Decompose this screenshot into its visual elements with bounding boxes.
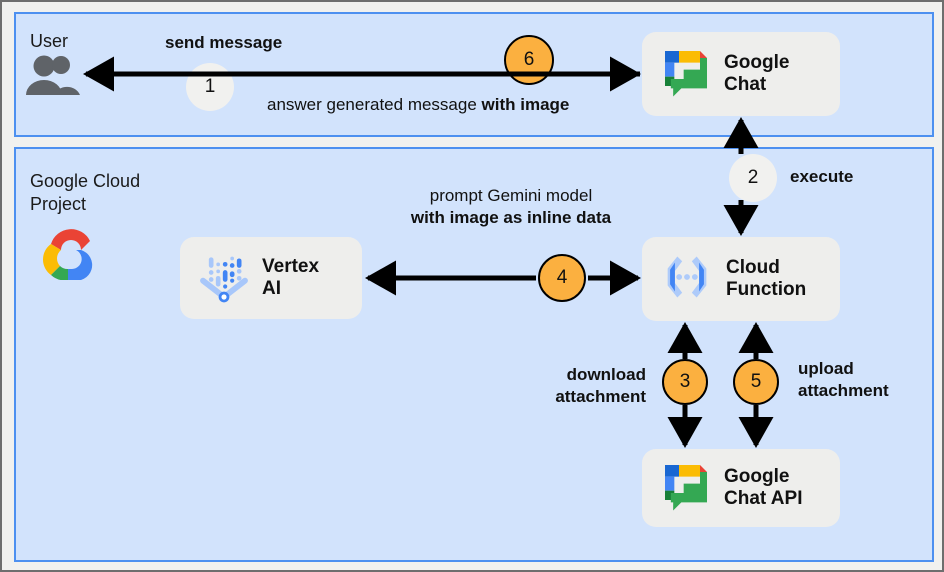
card-google-chat[interactable]: Google Chat [642, 32, 840, 116]
card-google-chat-label: Google Chat [724, 52, 789, 96]
step-badge-6: 6 [504, 35, 554, 85]
card-vertex-ai-label: Vertex AI [262, 256, 319, 300]
card-google-chat-api[interactable]: Google Chat API [642, 449, 840, 527]
label-answer-generated: answer generated message with image [267, 94, 569, 116]
google-chat-icon [658, 458, 714, 519]
diagram-canvas: User send message answer generated messa… [0, 0, 944, 572]
label-prompt-gemini: prompt Gemini modelwith image as inline … [374, 185, 648, 230]
label-download-attachment: download attachment [486, 364, 646, 409]
step-badge-4: 4 [538, 254, 586, 302]
label-send-message: send message [165, 32, 282, 54]
cloud-function-icon [658, 248, 716, 311]
step-badge-5: 5 [733, 359, 779, 405]
gcp-panel-title: Google Cloud Project [30, 170, 140, 215]
label-answer-generated-prefix: answer generated message [267, 95, 482, 114]
step-badge-1: 1 [186, 63, 234, 111]
label-answer-generated-emphasis: with image [482, 95, 570, 114]
google-cloud-icon [38, 224, 104, 285]
card-cloud-function[interactable]: Cloud Function [642, 237, 840, 321]
label-prompt-gemini-prefix: prompt Gemini model [430, 186, 593, 205]
label-execute: execute [790, 166, 853, 188]
google-chat-icon [658, 44, 714, 105]
step-badge-2: 2 [729, 154, 777, 202]
label-prompt-gemini-emphasis: with image as inline data [411, 208, 611, 227]
user-panel-title: User [30, 30, 68, 53]
label-upload-attachment: upload attachment [798, 358, 889, 403]
vertex-ai-icon [196, 248, 252, 309]
card-cloud-function-label: Cloud Function [726, 257, 806, 301]
card-vertex-ai[interactable]: Vertex AI [180, 237, 362, 319]
card-google-chat-api-label: Google Chat API [724, 466, 802, 510]
people-icon [24, 54, 80, 101]
step-badge-3: 3 [662, 359, 708, 405]
